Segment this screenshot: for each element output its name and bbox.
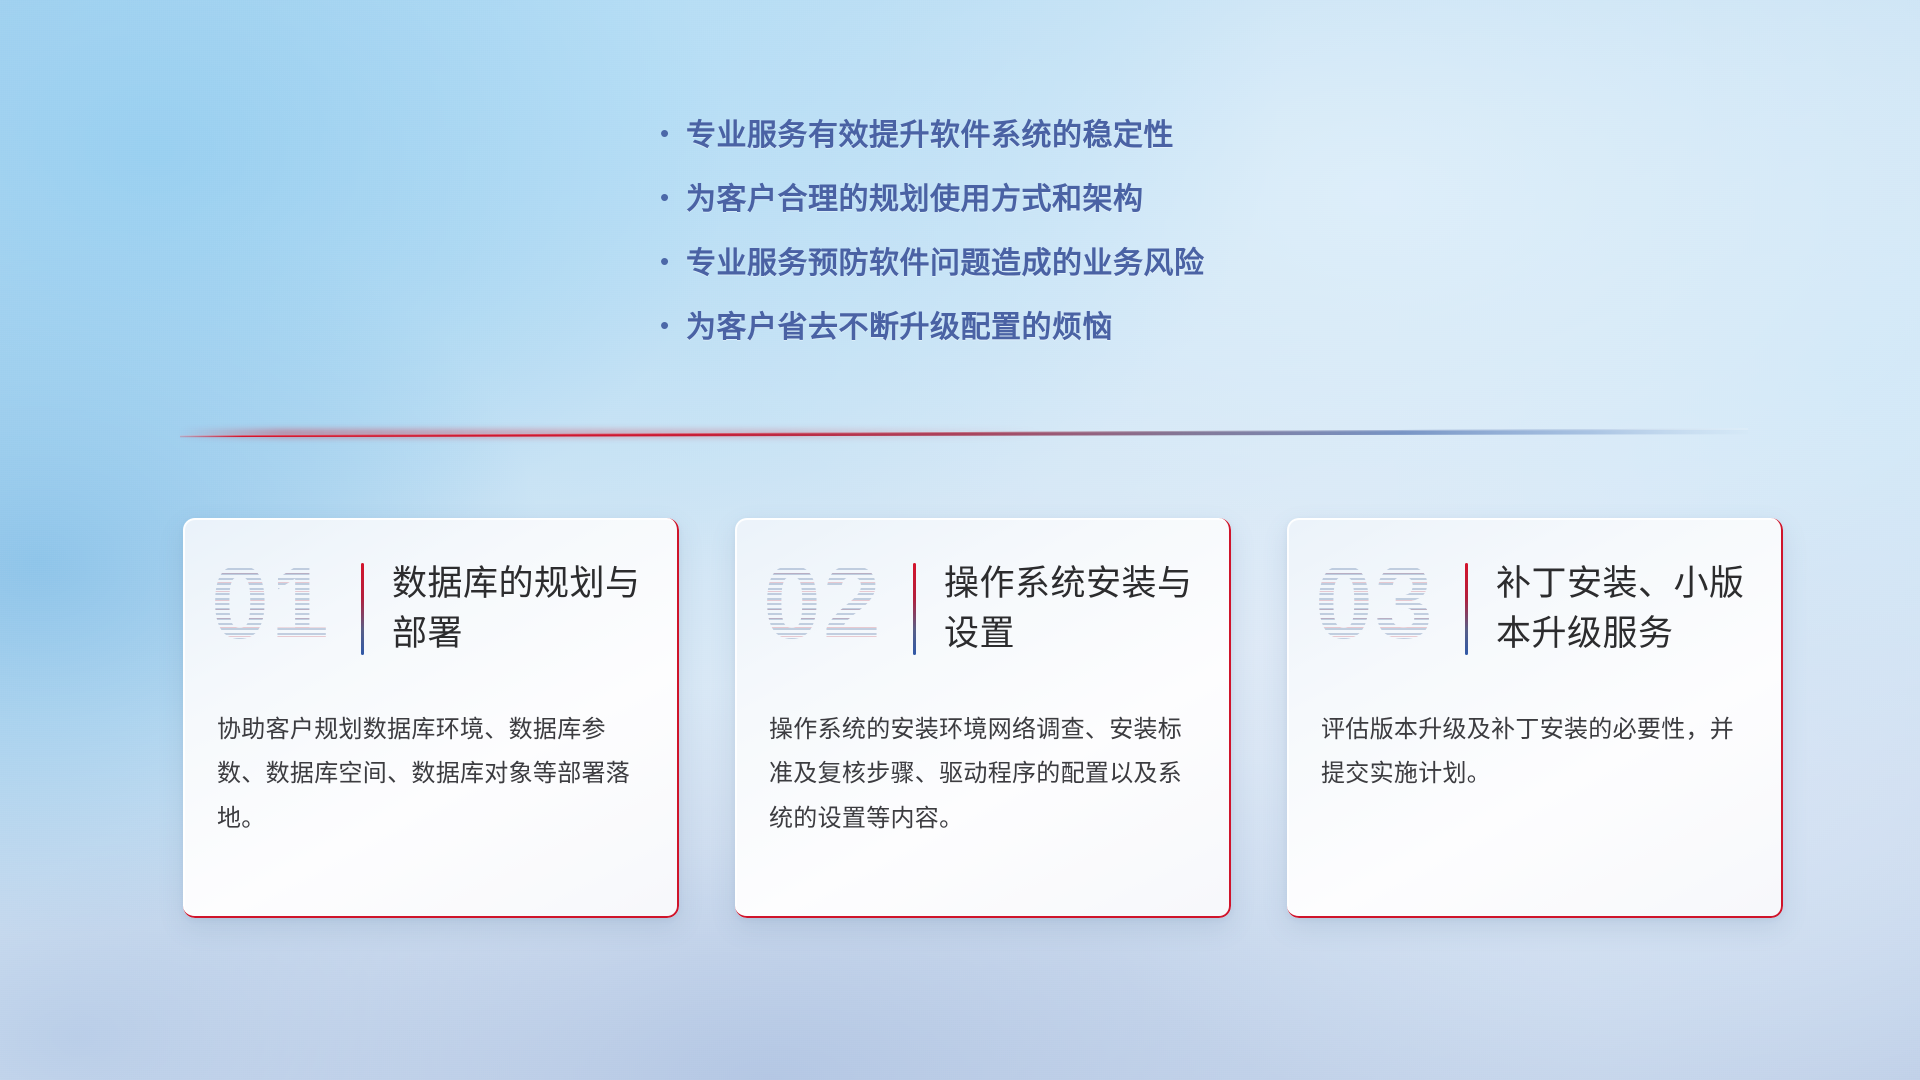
card-body-01: 协助客户规划数据库环境、数据库参数、数据库空间、数据库对象等部署落地。 <box>183 700 679 841</box>
card-number-01: 01 <box>211 551 361 655</box>
service-card-02[interactable]: 02 02 操作系统安装与设置 操作系统的安装环境网络调查、安装标准及复核步骤、… <box>735 518 1231 918</box>
card-header: 03 03 补丁安装、小版本升级服务 <box>1287 518 1783 700</box>
bullet-item-text-4: 为客户省去不断升级配置的烦恼 <box>686 302 1113 346</box>
bullet-dot-icon: • <box>660 120 686 146</box>
section-divider <box>180 424 1748 440</box>
service-card-03[interactable]: 03 03 补丁安装、小版本升级服务 评估版本升级及补丁安装的必要性，并提交实施… <box>1287 518 1783 918</box>
bullet-dot-icon: • <box>660 312 686 338</box>
card-number-02: 02 <box>763 551 913 655</box>
bullet-item-text-3: 专业服务预防软件问题造成的业务风险 <box>686 238 1205 282</box>
card-title-03: 补丁安装、小版本升级服务 <box>1496 559 1746 658</box>
bullet-item-text-2: 为客户合理的规划使用方式和架构 <box>686 174 1144 218</box>
card-header: 01 01 数据库的规划与部署 <box>183 518 679 700</box>
card-body-02: 操作系统的安装环境网络调查、安装标准及复核步骤、驱动程序的配置以及系统的设置等内… <box>735 700 1231 841</box>
service-card-row: 01 01 数据库的规划与部署 协助客户规划数据库环境、数据库参数、数据库空间、… <box>183 518 1783 918</box>
card-accent-rule <box>361 563 364 655</box>
card-number-03: 03 <box>1315 551 1465 655</box>
service-card-01[interactable]: 01 01 数据库的规划与部署 协助客户规划数据库环境、数据库参数、数据库空间、… <box>183 518 679 918</box>
card-title-02: 操作系统安装与设置 <box>944 559 1194 658</box>
list-item: • 为客户合理的规划使用方式和架构 <box>660 174 1420 238</box>
card-body-03: 评估版本升级及补丁安装的必要性，并提交实施计划。 <box>1287 700 1783 797</box>
bullet-item-text-1: 专业服务有效提升软件系统的稳定性 <box>686 110 1174 154</box>
card-header: 02 02 操作系统安装与设置 <box>735 518 1231 700</box>
benefits-bullet-list: • 专业服务有效提升软件系统的稳定性 • 为客户合理的规划使用方式和架构 • 专… <box>660 110 1420 366</box>
bullet-dot-icon: • <box>660 184 686 210</box>
card-accent-rule <box>913 563 916 655</box>
card-title-01: 数据库的规划与部署 <box>392 559 642 658</box>
bullet-dot-icon: • <box>660 248 686 274</box>
list-item: • 为客户省去不断升级配置的烦恼 <box>660 302 1420 366</box>
list-item: • 专业服务预防软件问题造成的业务风险 <box>660 238 1420 302</box>
card-accent-rule <box>1465 563 1468 655</box>
list-item: • 专业服务有效提升软件系统的稳定性 <box>660 110 1420 174</box>
divider-shape-icon <box>180 424 1748 440</box>
